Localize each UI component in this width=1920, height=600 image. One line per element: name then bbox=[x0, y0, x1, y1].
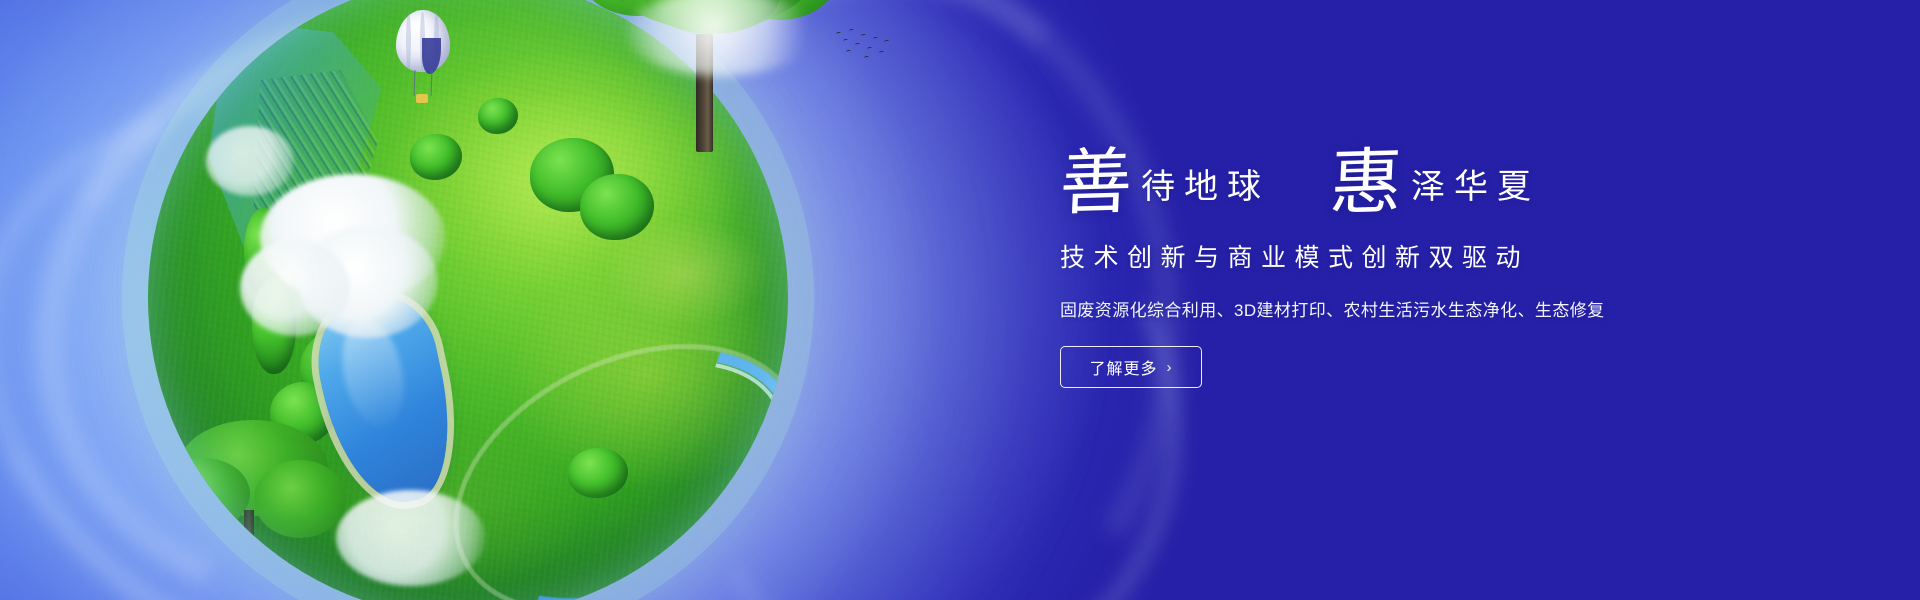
bird-icon bbox=[864, 56, 870, 60]
balloon-cords bbox=[414, 70, 433, 96]
bird-icon bbox=[873, 37, 879, 41]
main-tree-icon bbox=[578, 0, 838, 138]
birds-flock-icon bbox=[834, 26, 892, 62]
page-description: 固废资源化综合利用、3D建材打印、农村生活污水生态净化、生态修复 bbox=[1060, 296, 1780, 321]
bird-icon bbox=[843, 39, 849, 43]
hot-air-balloon-icon bbox=[396, 10, 454, 102]
bird-icon bbox=[861, 34, 867, 38]
bird-icon bbox=[884, 40, 890, 44]
hero-copy: 善 待地球 惠 泽华夏 技术创新与商业模式创新双驱动 固废资源化综合利用、3D建… bbox=[1060, 150, 1780, 388]
headline-lead-char-2: 惠 bbox=[1329, 149, 1408, 217]
mist-overlay bbox=[626, 0, 816, 76]
page-subtitle: 技术创新与商业模式创新双驱动 bbox=[1060, 238, 1780, 274]
balloon-gore bbox=[422, 38, 441, 74]
page-title: 善 待地球 惠 泽华夏 bbox=[1060, 150, 1780, 216]
balloon-stripe bbox=[406, 12, 411, 70]
bird-icon bbox=[846, 50, 852, 54]
bird-icon bbox=[879, 51, 885, 55]
bird-icon bbox=[836, 32, 842, 36]
headline-rest-1: 待地球 bbox=[1136, 171, 1270, 216]
bird-icon bbox=[855, 43, 861, 47]
learn-more-label: 了解更多 bbox=[1089, 355, 1157, 379]
balloon-basket bbox=[416, 94, 428, 103]
bird-icon bbox=[867, 47, 873, 51]
learn-more-button[interactable]: 了解更多 › bbox=[1060, 346, 1202, 388]
chevron-right-icon: › bbox=[1167, 359, 1173, 376]
hero-banner: 善 待地球 惠 泽华夏 技术创新与商业模式创新双驱动 固废资源化综合利用、3D建… bbox=[0, 0, 1920, 600]
tiny-planet-artwork bbox=[148, 0, 788, 600]
headline-rest-2: 泽华夏 bbox=[1406, 171, 1540, 216]
headline-lead-char-1: 善 bbox=[1058, 149, 1137, 217]
bird-icon bbox=[849, 29, 855, 33]
